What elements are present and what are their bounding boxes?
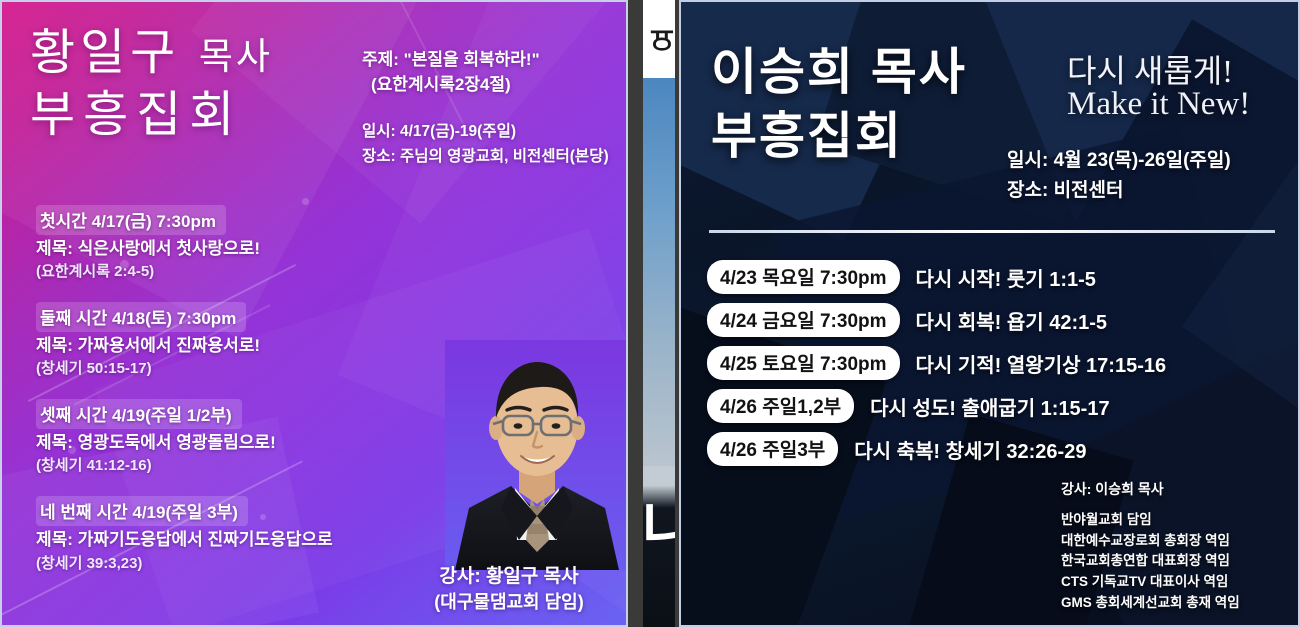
session-heading: 셋째 시간 4/19(주일 1/2부)	[36, 399, 242, 429]
schedule-chip: 4/26 주일1,2부	[707, 389, 854, 423]
left-topic-line2: (요한계시록2장4절)	[362, 73, 624, 98]
left-event-title: 부흥집회	[30, 86, 375, 146]
adjacent-slide-peek-strip[interactable]: 요 니	[643, 0, 675, 627]
session-subject: 제목: 식은사랑에서 첫사랑으로!	[36, 237, 436, 261]
schedule-chip: 4/24 금요일 7:30pm	[707, 303, 900, 337]
left-where-label: 장소: 주님의 영광교회, 비전센터(본당)	[362, 145, 628, 170]
peek-glyph-bottom: 니	[643, 500, 675, 558]
schedule-chip: 4/25 토요일 7:30pm	[707, 346, 900, 380]
left-speaker-name: 황일구	[30, 26, 180, 80]
session-item: 셋째 시간 4/19(주일 1/2부) 제목: 영광도둑에서 영광돌림으로! (…	[36, 399, 436, 476]
credential-item: CTS 기독교TV 대표이사 역임	[1061, 572, 1240, 593]
schedule-text: 다시 회복! 욥기 42:1-5	[916, 306, 1108, 335]
session-reference: (창세기 39:3,23)	[36, 553, 436, 574]
schedule-chip: 4/23 목요일 7:30pm	[707, 260, 900, 294]
schedule-row: 4/26 주일3부 다시 축복! 창세기 32:26-29	[707, 432, 1287, 466]
right-credentials-list: 반야월교회 담임 대한예수교장로회 총회장 역임 한국교회총연합 대표회장 역임…	[1061, 510, 1240, 613]
schedule-row: 4/25 토요일 7:30pm 다시 기적! 열왕기상 17:15-16	[707, 346, 1287, 380]
schedule-text: 다시 기적! 열왕기상 17:15-16	[916, 349, 1167, 378]
session-item: 네 번째 시간 4/19(주일 3부) 제목: 가짜기도응답에서 진짜기도응답으…	[36, 496, 436, 573]
session-item: 첫시간 4/17(금) 7:30pm 제목: 식은사랑에서 첫사랑으로! (요한…	[36, 205, 436, 282]
credential-item: 한국교회총연합 대표회장 역임	[1061, 551, 1240, 572]
right-where-label: 장소: 비전센터	[1007, 175, 1124, 202]
background-dot	[302, 198, 309, 205]
divider-rule	[709, 230, 1275, 233]
slideshow-stage: 황일구 목사 부흥집회 주제: "본질을 회복하라!" (요한계시록2장4절) …	[0, 0, 1300, 627]
right-when-label: 일시: 4월 23(목)-26일(주일)	[1007, 145, 1231, 172]
left-topic-block: 주제: "본질을 회복하라!" (요한계시록2장4절)	[362, 48, 624, 97]
session-subject: 제목: 가짜용서에서 진짜용서로!	[36, 334, 436, 358]
session-subject: 제목: 가짜기도응답에서 진짜기도응답으로	[36, 528, 436, 552]
right-speaker-name: 이승희 목사	[711, 40, 1081, 104]
session-reference: (창세기 50:15-17)	[36, 358, 436, 379]
schedule-text: 다시 성도! 출애굽기 1:15-17	[870, 392, 1109, 421]
credential-item: 대한예수교장로회 총회장 역임	[1061, 531, 1240, 552]
session-reference: (창세기 41:12-16)	[36, 455, 436, 476]
left-speaker-credit-line1: 강사: 황일구 목사	[392, 564, 626, 590]
left-speaker-credit-line2: (대구물댐교회 담임)	[392, 590, 626, 614]
left-session-list: 첫시간 4/17(금) 7:30pm 제목: 식은사랑에서 첫사랑으로! (요한…	[36, 205, 436, 594]
revival-poster-left[interactable]: 황일구 목사 부흥집회 주제: "본질을 회복하라!" (요한계시록2장4절) …	[0, 0, 628, 627]
credential-item: GMS 총회세계선교회 총재 역임	[1061, 593, 1240, 614]
schedule-row: 4/26 주일1,2부 다시 성도! 출애굽기 1:15-17	[707, 389, 1287, 423]
peek-glyph-top: 요	[650, 26, 674, 52]
speaker-portrait-photo	[445, 340, 628, 570]
credential-item: 반야월교회 담임	[1061, 510, 1240, 531]
schedule-row: 4/24 금요일 7:30pm 다시 회복! 욥기 42:1-5	[707, 303, 1287, 337]
session-item: 둘째 시간 4/18(토) 7:30pm 제목: 가짜용서에서 진짜용서로! (…	[36, 302, 436, 379]
schedule-row: 4/23 목요일 7:30pm 다시 시작! 룻기 1:1-5	[707, 260, 1287, 294]
session-heading: 둘째 시간 4/18(토) 7:30pm	[36, 302, 246, 332]
left-poster-title: 황일구 목사 부흥집회	[30, 24, 375, 146]
session-reference: (요한계시록 2:4-5)	[36, 261, 436, 282]
left-speaker-honorific: 목사	[199, 36, 273, 77]
session-heading: 첫시간 4/17(금) 7:30pm	[36, 205, 226, 235]
session-heading: 네 번째 시간 4/19(주일 3부)	[36, 496, 248, 526]
left-topic-line1: 주제: "본질을 회복하라!"	[362, 48, 624, 73]
left-when-label: 일시: 4/17(금)-19(주일)	[362, 120, 628, 145]
peek-strip-gradient	[643, 78, 675, 466]
right-speaker-credit: 강사: 이승희 목사	[1061, 479, 1164, 499]
revival-poster-right[interactable]: 이승희 목사 부흥집회 다시 새롭게! Make it New! 일시: 4월 …	[679, 0, 1300, 627]
schedule-text: 다시 축복! 창세기 32:26-29	[854, 435, 1086, 464]
schedule-text: 다시 시작! 룻기 1:1-5	[916, 263, 1096, 292]
right-slogan-english: Make it New!	[1067, 86, 1250, 123]
schedule-chip: 4/26 주일3부	[707, 432, 838, 466]
left-speaker-credit: 강사: 황일구 목사 (대구물댐교회 담임)	[392, 564, 626, 614]
right-schedule-list: 4/23 목요일 7:30pm 다시 시작! 룻기 1:1-5 4/24 금요일…	[707, 260, 1287, 475]
left-details-block: 일시: 4/17(금)-19(주일) 장소: 주님의 영광교회, 비전센터(본당…	[362, 120, 628, 170]
session-subject: 제목: 영광도둑에서 영광돌림으로!	[36, 431, 436, 455]
